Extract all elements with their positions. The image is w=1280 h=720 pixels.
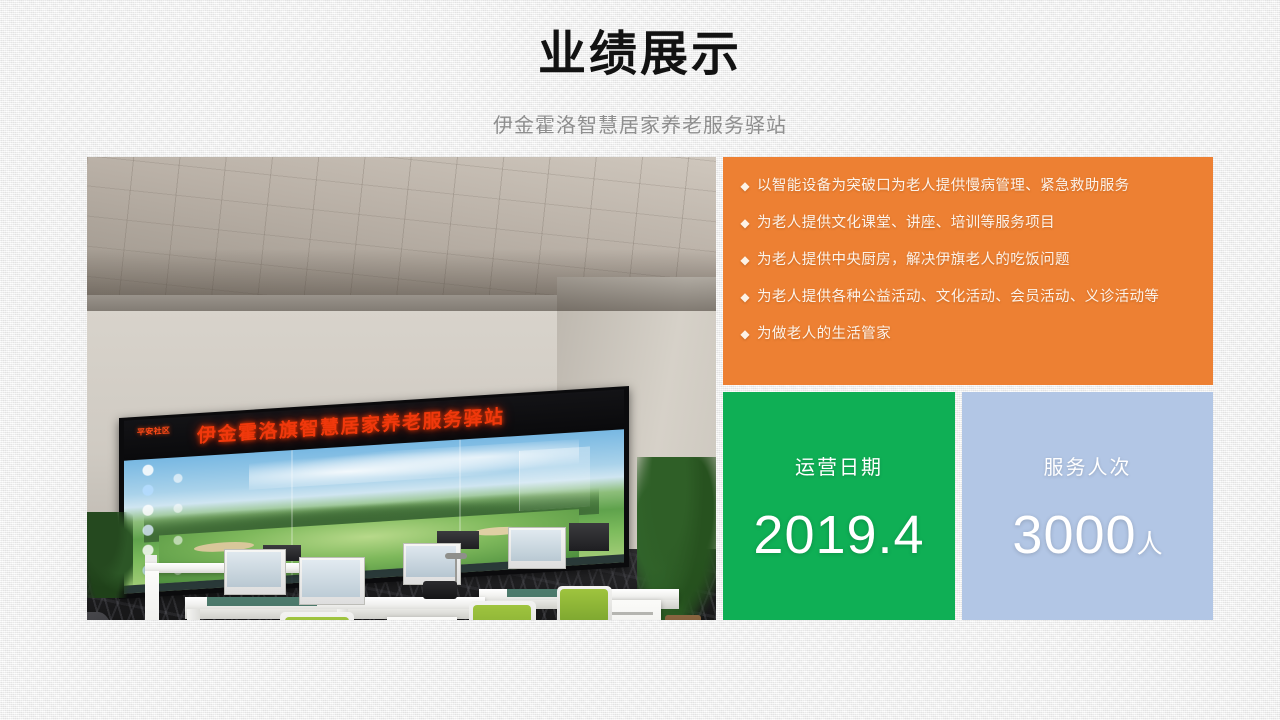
photo-monitor-1-screen: [227, 552, 281, 587]
photo-monitor-dark-3: [569, 523, 609, 551]
photo-chair-3-back: [560, 589, 608, 620]
stat-value-number: 2019.4: [753, 505, 924, 565]
list-item: ◆ 为老人提供各种公益活动、文化活动、会员活动、义诊活动等: [733, 285, 1205, 322]
photo-monitor-2-screen: [302, 560, 360, 597]
list-item-label: 为做老人的生活管家: [757, 322, 891, 347]
stat-value-number: 3000: [1012, 505, 1136, 565]
list-item: ◆ 为老人提供中央厨房，解决伊旗老人的吃饭问题: [733, 248, 1205, 285]
list-item-label: 以智能设备为突破口为老人提供慢病管理、紧急救助服务: [757, 174, 1130, 199]
photo-middle-cabinet: [387, 617, 457, 620]
diamond-bullet-icon: ◆: [733, 285, 757, 310]
stat-value: 2019.4: [723, 502, 955, 577]
stat-label: 服务人次: [962, 454, 1213, 482]
stat-card-operating-date: 运营日期 2019.4: [723, 392, 955, 620]
photo-led-sign-logo: 平安社区: [137, 423, 195, 451]
photo-desk-phone: [423, 581, 457, 599]
stat-value-unit: 人: [1137, 529, 1163, 559]
stat-value: 3000人: [962, 502, 1213, 577]
diamond-bullet-icon: ◆: [733, 174, 757, 199]
photo-desktop-right-panel: [519, 446, 590, 510]
diamond-bullet-icon: ◆: [733, 248, 757, 273]
list-item-label: 为老人提供中央厨房，解决伊旗老人的吃饭问题: [757, 248, 1070, 273]
photo-back-desk-panel: [145, 571, 159, 620]
list-item-label: 为老人提供文化课堂、讲座、培训等服务项目: [757, 211, 1055, 236]
photo-plant-left: [87, 512, 133, 598]
page-subtitle: 伊金霍洛智慧居家养老服务驿站: [0, 111, 1280, 141]
page-title: 业绩展示: [0, 24, 1280, 86]
slide-canvas: 业绩展示 伊金霍洛智慧居家养老服务驿站 平安社区 伊金霍洛旗智慧居家养老服务驿站: [0, 0, 1280, 720]
photo-plant-pot-right: [665, 615, 701, 620]
photo-desk-lamp-head: [445, 553, 467, 559]
diamond-bullet-icon: ◆: [733, 211, 757, 236]
photo-ceiling-shadow: [87, 249, 716, 311]
photo-monitor-3-screen: [406, 546, 456, 577]
service-highlights-panel: ◆ 以智能设备为突破口为老人提供慢病管理、紧急救助服务 ◆ 为老人提供文化课堂、…: [723, 157, 1213, 385]
list-item-label: 为老人提供各种公益活动、文化活动、会员活动、义诊活动等: [757, 285, 1159, 310]
photo-chair-1-back: [285, 617, 349, 620]
photo-middle-desk-leg-left: [187, 609, 200, 620]
photo-monitor-4-screen: [511, 530, 561, 561]
list-item: ◆ 为老人提供文化课堂、讲座、培训等服务项目: [733, 211, 1205, 248]
list-item: ◆ 以智能设备为突破口为老人提供慢病管理、紧急救助服务: [733, 174, 1205, 211]
stat-card-service-count: 服务人次 3000人: [962, 392, 1213, 620]
office-photo: 平安社区 伊金霍洛旗智慧居家养老服务驿站: [87, 157, 716, 620]
photo-chair-2-back: [473, 605, 531, 620]
list-item: ◆ 为做老人的生活管家: [733, 322, 1205, 359]
diamond-bullet-icon: ◆: [733, 322, 757, 347]
stat-label: 运营日期: [723, 454, 955, 482]
service-highlights-list: ◆ 以智能设备为突破口为老人提供慢病管理、紧急救助服务 ◆ 为老人提供文化课堂、…: [733, 174, 1205, 359]
